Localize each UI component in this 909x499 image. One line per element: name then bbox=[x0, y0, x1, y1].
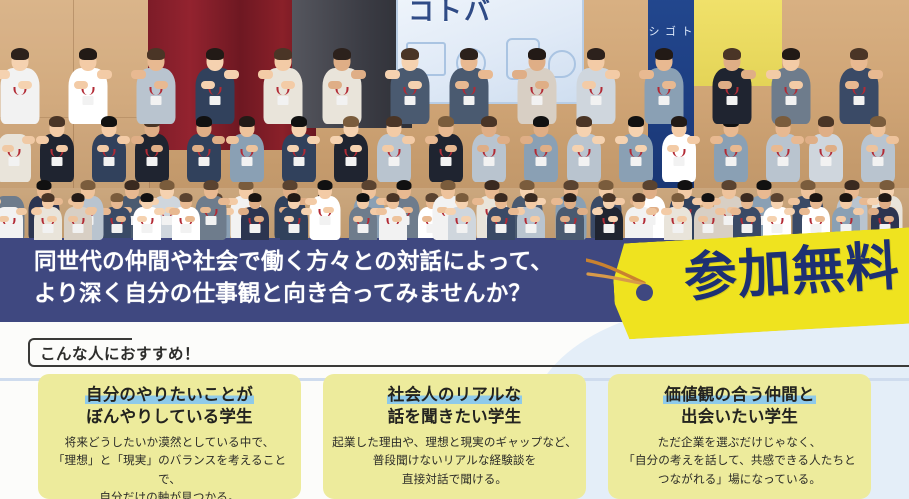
free-entry-tag: 参加無料 bbox=[596, 232, 909, 348]
person-name-badge bbox=[441, 157, 452, 166]
person-hand bbox=[629, 216, 639, 222]
person-hand bbox=[351, 70, 366, 79]
person-hand bbox=[853, 208, 864, 215]
person-hand bbox=[866, 145, 878, 152]
person-name-badge bbox=[242, 157, 253, 166]
card-heading-highlight: 価値観の合う仲間と bbox=[663, 385, 815, 404]
tag-label: 参加無料 bbox=[683, 239, 909, 305]
photo-person bbox=[187, 113, 221, 182]
photo-row-back bbox=[0, 4, 909, 124]
card-body-line: 普段聞けないリアルな経験談を bbox=[331, 451, 578, 469]
person-hair bbox=[387, 193, 400, 202]
card-heading-rest: 出会いたい学生 bbox=[616, 406, 863, 428]
card-body-line: 自分だけの軸が見つかる。 bbox=[46, 488, 293, 499]
photo-person bbox=[309, 176, 340, 240]
poster-root: コトバ シ ゴ ト 同世代の仲間や社会で働く方々との対話によって、 より深く自分… bbox=[0, 0, 909, 499]
recommend-card: 社会人のリアルな 話を聞きたい学生 起業した理由や、理想と現実のギャップなど、 … bbox=[323, 374, 586, 499]
person-hair bbox=[564, 193, 577, 202]
person-hand bbox=[608, 216, 618, 222]
person-hair bbox=[291, 116, 307, 127]
card-body-line: 直接対話で聞ける。 bbox=[331, 470, 578, 488]
person-hair bbox=[386, 116, 402, 127]
photo-person bbox=[766, 113, 800, 182]
photo-person bbox=[349, 189, 377, 240]
person-hand bbox=[799, 208, 810, 215]
person-hand bbox=[477, 145, 489, 152]
person-hand bbox=[185, 216, 195, 222]
photo-person bbox=[487, 189, 515, 240]
person-name-badge bbox=[404, 96, 415, 105]
person-hand bbox=[491, 216, 501, 222]
person-hand bbox=[677, 216, 687, 222]
person-name-badge bbox=[658, 96, 669, 105]
person-name-badge bbox=[565, 224, 576, 233]
person-hair bbox=[481, 116, 497, 127]
person-hair bbox=[818, 116, 834, 127]
card-heading-highlight: 自分のやりたいことが bbox=[85, 385, 254, 404]
recommend-card: 自分のやりたいことが ぼんやりしている学生 将来どうしたいか漠然としている中で、… bbox=[38, 374, 301, 499]
photo-person bbox=[40, 113, 74, 182]
person-hair bbox=[249, 193, 262, 202]
person-hand bbox=[646, 208, 657, 215]
photo-person bbox=[136, 45, 175, 124]
person-hair bbox=[810, 193, 823, 202]
person-name-badge bbox=[209, 96, 220, 105]
person-hand bbox=[784, 208, 795, 215]
person-hair bbox=[196, 116, 212, 127]
person-name-badge bbox=[496, 224, 507, 233]
person-name-badge bbox=[590, 96, 601, 105]
card-heading: 価値観の合う仲間と 出会いたい学生 bbox=[616, 384, 863, 428]
person-hand bbox=[535, 81, 549, 89]
person-hair bbox=[6, 116, 22, 127]
person-hair bbox=[333, 48, 351, 60]
person-name-badge bbox=[526, 224, 537, 233]
photo-person bbox=[172, 189, 200, 240]
person-name-badge bbox=[346, 157, 357, 166]
person-name-badge bbox=[873, 157, 884, 166]
person-name-badge bbox=[205, 216, 216, 225]
person-hand bbox=[766, 70, 781, 79]
person-hair bbox=[671, 116, 687, 127]
person-hand bbox=[478, 70, 493, 79]
person-name-badge bbox=[181, 224, 192, 233]
person-hand bbox=[254, 216, 264, 222]
person-hair bbox=[603, 193, 616, 202]
person-hair bbox=[528, 48, 546, 60]
person-hair bbox=[101, 116, 117, 127]
person-hand bbox=[224, 70, 239, 79]
person-hand bbox=[667, 145, 679, 152]
person-hand bbox=[307, 136, 320, 144]
person-hand bbox=[445, 208, 456, 215]
photo-person bbox=[448, 189, 476, 240]
person-name-badge bbox=[104, 157, 115, 166]
group-photo: コトバ シ ゴ ト bbox=[0, 0, 909, 240]
person-hand bbox=[868, 70, 883, 79]
card-body-line: 起業した理由や、理想と現実のギャップなど、 bbox=[331, 433, 578, 451]
person-hand bbox=[771, 145, 783, 152]
person-name-badge bbox=[289, 224, 300, 233]
photo-person bbox=[377, 113, 411, 182]
photo-person bbox=[472, 113, 506, 182]
person-hair bbox=[111, 193, 124, 202]
person-name-badge bbox=[43, 224, 54, 233]
person-hand bbox=[192, 145, 204, 152]
person-hair bbox=[141, 193, 154, 202]
headline-line-1: 同世代の仲間や社会で働く方々との対話によって、 bbox=[34, 247, 553, 279]
person-name-badge bbox=[536, 157, 547, 166]
photo-person bbox=[280, 189, 308, 240]
person-name-badge bbox=[277, 96, 288, 105]
person-name-badge bbox=[674, 157, 685, 166]
recommend-card-list: 自分のやりたいことが ぼんやりしている学生 将来どうしたいか漠然としている中で、… bbox=[0, 374, 909, 499]
person-hair bbox=[274, 48, 292, 60]
person-name-badge bbox=[821, 157, 832, 166]
card-body-line: 「自分の考えを話して、共感できる人たちと bbox=[616, 451, 863, 469]
person-hand bbox=[592, 208, 603, 215]
card-body-line: ただ企業を選ぶだけじゃなく、 bbox=[616, 433, 863, 451]
person-hand bbox=[392, 216, 402, 222]
person-hair bbox=[723, 48, 741, 60]
person-hair bbox=[42, 193, 55, 202]
person-hair bbox=[239, 116, 255, 127]
person-hand bbox=[512, 70, 527, 79]
person-hair bbox=[633, 193, 646, 202]
person-hair bbox=[672, 193, 685, 202]
person-hand bbox=[226, 136, 239, 144]
person-hand bbox=[117, 136, 130, 144]
photo-person bbox=[230, 113, 264, 182]
person-hand bbox=[97, 145, 109, 152]
person-hand bbox=[836, 216, 846, 222]
person-hand bbox=[0, 70, 10, 79]
person-hand bbox=[2, 145, 14, 152]
person-name-badge bbox=[778, 157, 789, 166]
person-hair bbox=[3, 193, 16, 202]
person-hand bbox=[868, 208, 879, 215]
card-heading-highlight: 社会人のリアルな bbox=[387, 385, 522, 404]
person-hand bbox=[151, 145, 163, 152]
person-hair bbox=[288, 193, 301, 202]
person-name-badge bbox=[484, 157, 495, 166]
card-heading-rest: ぼんやりしている学生 bbox=[46, 406, 293, 428]
person-hand bbox=[131, 136, 144, 144]
person-hair bbox=[206, 48, 224, 60]
photo-person bbox=[34, 189, 62, 240]
person-name-badge bbox=[457, 224, 468, 233]
person-hair bbox=[49, 116, 65, 127]
person-hand bbox=[845, 81, 859, 89]
person-hair bbox=[628, 116, 644, 127]
photo-person bbox=[334, 113, 368, 182]
person-hand bbox=[886, 136, 899, 144]
person-hand bbox=[74, 81, 88, 89]
person-hand bbox=[520, 136, 533, 144]
photo-person bbox=[282, 113, 316, 182]
person-hair bbox=[343, 116, 359, 127]
person-hand bbox=[730, 145, 742, 152]
person-hair bbox=[79, 48, 97, 60]
person-hair bbox=[460, 48, 478, 60]
recommend-section: こんな人におすすめ！ 自分のやりたいことが ぼんやりしている学生 将来どうしたい… bbox=[0, 322, 909, 499]
photo-person bbox=[133, 189, 161, 240]
person-name-badge bbox=[199, 157, 210, 166]
person-hand bbox=[425, 136, 438, 144]
photo-person bbox=[567, 113, 601, 182]
person-hand bbox=[330, 136, 343, 144]
person-name-badge bbox=[358, 224, 369, 233]
person-hand bbox=[97, 70, 112, 79]
section-label: こんな人におすすめ！ bbox=[40, 342, 200, 364]
person-hand bbox=[376, 208, 387, 215]
person-hand bbox=[212, 136, 225, 144]
person-hand bbox=[323, 207, 334, 213]
person-hair bbox=[879, 193, 892, 202]
person-hair bbox=[495, 193, 508, 202]
person-name-badge bbox=[319, 216, 330, 225]
person-name-badge bbox=[336, 96, 347, 105]
person-hand bbox=[328, 81, 342, 89]
person-name-badge bbox=[250, 224, 261, 233]
person-hand bbox=[16, 208, 27, 215]
card-body-line: 「理想」と「現実」のバランスを考えることで、 bbox=[46, 451, 293, 488]
person-hand bbox=[22, 136, 35, 144]
photo-person bbox=[809, 113, 843, 182]
person-name-badge bbox=[142, 224, 153, 233]
photo-person bbox=[379, 189, 407, 240]
person-hand bbox=[577, 208, 588, 215]
person-hair bbox=[147, 48, 165, 60]
person-hand bbox=[68, 216, 78, 222]
person-hand bbox=[508, 208, 519, 215]
person-hand bbox=[350, 145, 362, 152]
person-hair bbox=[203, 180, 218, 190]
person-hand bbox=[47, 216, 57, 222]
photo-person bbox=[712, 45, 751, 124]
person-hair bbox=[870, 116, 886, 127]
person-hand bbox=[635, 145, 647, 152]
person-hand bbox=[455, 81, 469, 89]
person-hand bbox=[615, 136, 628, 144]
person-name-badge bbox=[112, 224, 123, 233]
photo-person bbox=[429, 113, 463, 182]
photo-person bbox=[556, 189, 584, 240]
person-hand bbox=[497, 136, 510, 144]
person-hand bbox=[18, 81, 32, 89]
person-hand bbox=[825, 145, 837, 152]
section-rule bbox=[126, 365, 909, 367]
person-hand bbox=[402, 136, 415, 144]
person-name-badge bbox=[726, 96, 737, 105]
person-hair bbox=[438, 116, 454, 127]
person-hair bbox=[771, 193, 784, 202]
person-hand bbox=[218, 198, 230, 205]
person-hand bbox=[382, 145, 394, 152]
person-hair bbox=[576, 116, 592, 127]
person-hand bbox=[710, 136, 723, 144]
person-name-badge bbox=[14, 96, 25, 105]
person-hand bbox=[281, 81, 295, 89]
person-hair bbox=[655, 48, 673, 60]
person-hand bbox=[408, 81, 422, 89]
person-name-badge bbox=[150, 96, 161, 105]
card-body: ただ企業を選ぶだけじゃなく、 「自分の考えを話して、共感できる人たちと つながれ… bbox=[616, 433, 863, 488]
card-heading: 自分のやりたいことが ぼんやりしている学生 bbox=[46, 384, 293, 428]
person-hand bbox=[169, 208, 180, 215]
person-hand bbox=[767, 216, 777, 222]
person-hair bbox=[702, 193, 715, 202]
recommend-card: 価値観の合う仲間と 出会いたい学生 ただ企業を選ぶだけじゃなく、 「自分の考えを… bbox=[608, 374, 871, 499]
person-hand bbox=[258, 70, 273, 79]
person-hand bbox=[238, 208, 249, 215]
person-hand bbox=[353, 216, 363, 222]
person-name-badge bbox=[9, 157, 20, 166]
card-body-line: 将来どうしたいか漠然としている中で、 bbox=[46, 433, 293, 451]
person-hand bbox=[287, 145, 299, 152]
photo-person bbox=[64, 189, 92, 240]
person-hair bbox=[456, 193, 469, 202]
headline-line-2: より深く自分の仕事観と向き合ってみませんか？ bbox=[34, 279, 553, 311]
person-hair bbox=[357, 193, 370, 202]
person-hair bbox=[850, 48, 868, 60]
person-hand bbox=[0, 216, 9, 222]
person-hair bbox=[587, 48, 605, 60]
person-hand bbox=[540, 145, 552, 152]
person-hand bbox=[884, 216, 894, 222]
photo-person bbox=[662, 113, 696, 182]
person-hand bbox=[301, 208, 312, 215]
photo-person bbox=[103, 189, 131, 240]
person-hand bbox=[131, 70, 146, 79]
person-hand bbox=[422, 216, 432, 222]
person-hand bbox=[137, 216, 147, 222]
person-name-badge bbox=[726, 157, 737, 166]
person-hair bbox=[180, 193, 193, 202]
headline-text: 同世代の仲間や社会で働く方々との対話によって、 より深く自分の仕事観と向き合って… bbox=[34, 247, 553, 311]
person-name-badge bbox=[73, 224, 84, 233]
person-hand bbox=[592, 136, 605, 144]
person-hand bbox=[385, 70, 400, 79]
person-hand bbox=[741, 70, 756, 79]
photo-person bbox=[0, 113, 31, 182]
person-hand bbox=[445, 145, 457, 152]
person-hand bbox=[815, 216, 825, 222]
person-hand bbox=[639, 70, 654, 79]
person-hair bbox=[525, 193, 538, 202]
photo-person bbox=[0, 189, 23, 240]
person-hair bbox=[741, 193, 754, 202]
person-hand bbox=[662, 81, 676, 89]
photo-person bbox=[619, 113, 653, 182]
person-name-badge bbox=[531, 96, 542, 105]
person-hand bbox=[791, 136, 804, 144]
person-hand bbox=[572, 145, 584, 152]
person-hand bbox=[530, 216, 540, 222]
person-hair bbox=[840, 193, 853, 202]
person-name-badge bbox=[4, 224, 15, 233]
person-hair bbox=[72, 193, 85, 202]
person-hand bbox=[560, 216, 570, 222]
person-name-badge bbox=[294, 157, 305, 166]
person-hand bbox=[461, 216, 471, 222]
person-hand bbox=[85, 208, 96, 215]
person-hand bbox=[715, 208, 726, 215]
person-hand bbox=[746, 216, 756, 222]
card-body-line: つながれる」場になっている。 bbox=[616, 470, 863, 488]
photo-person bbox=[861, 113, 895, 182]
person-hand bbox=[284, 216, 294, 222]
person-hand bbox=[36, 136, 49, 144]
person-name-badge bbox=[161, 216, 172, 225]
person-hand bbox=[661, 208, 672, 215]
card-body: 起業した理由や、理想と現実のギャップなど、 普段聞けないリアルな経験談を 直接対… bbox=[331, 433, 578, 488]
photo-person bbox=[524, 113, 558, 182]
person-name-badge bbox=[82, 96, 93, 105]
person-hair bbox=[533, 116, 549, 127]
person-name-badge bbox=[52, 157, 63, 166]
person-name-badge bbox=[785, 96, 796, 105]
person-hand bbox=[687, 136, 700, 144]
person-hair bbox=[401, 48, 419, 60]
person-hand bbox=[56, 145, 68, 152]
person-hair bbox=[775, 116, 791, 127]
person-name-badge bbox=[389, 157, 400, 166]
person-hand bbox=[805, 136, 818, 144]
card-heading: 社会人のリアルな 話を聞きたい学生 bbox=[331, 384, 578, 428]
card-heading-rest: 話を聞きたい学生 bbox=[331, 406, 578, 428]
person-hand bbox=[31, 208, 42, 215]
person-name-badge bbox=[147, 157, 158, 166]
person-name-badge bbox=[463, 96, 474, 105]
photo-person bbox=[241, 189, 269, 240]
photo-person bbox=[92, 113, 126, 182]
person-name-badge bbox=[853, 96, 864, 105]
person-name-badge bbox=[388, 224, 399, 233]
photo-person bbox=[517, 189, 545, 240]
person-hand bbox=[246, 145, 258, 152]
person-hair bbox=[11, 48, 29, 60]
person-hand bbox=[154, 208, 165, 215]
person-hand bbox=[201, 81, 215, 89]
person-name-badge bbox=[579, 157, 590, 166]
person-hair bbox=[782, 48, 800, 60]
person-hand bbox=[730, 208, 741, 215]
person-name-badge bbox=[631, 157, 642, 166]
card-body: 将来どうしたいか漠然としている中で、 「理想」と「現実」のバランスを考えることで… bbox=[46, 433, 293, 499]
person-hand bbox=[116, 216, 126, 222]
person-hand bbox=[718, 81, 732, 89]
person-hand bbox=[698, 216, 708, 222]
person-hand bbox=[154, 81, 168, 89]
person-hand bbox=[605, 70, 620, 79]
person-hair bbox=[317, 180, 332, 190]
person-hand bbox=[582, 81, 596, 89]
person-hand bbox=[789, 81, 803, 89]
person-hand bbox=[200, 207, 211, 213]
